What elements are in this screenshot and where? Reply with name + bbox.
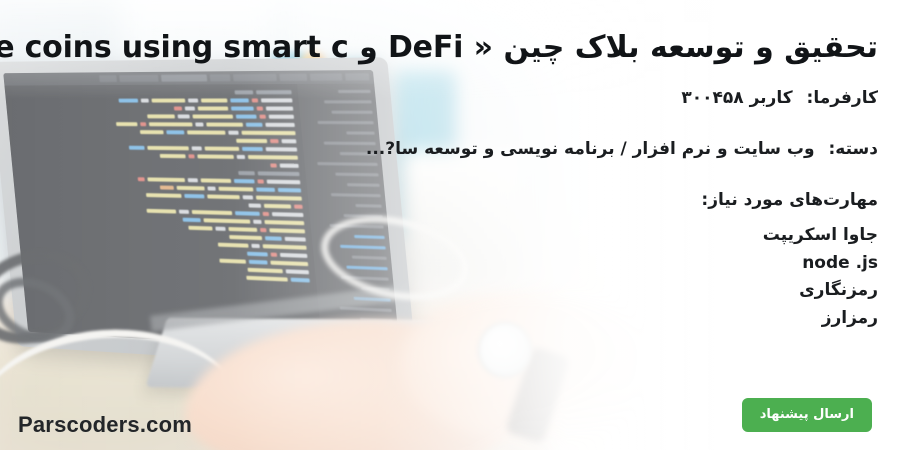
- employer-row: کارفرما: کاربر ۳۰۰۴۵۸: [681, 88, 878, 108]
- skill-item: node .js: [763, 250, 878, 278]
- skills-list: جاوا اسکریپت node .js رمزنگاری رمزارز: [763, 222, 878, 332]
- project-card: تحقیق و توسعه بلاک چین « DeFi و stable c…: [0, 0, 900, 450]
- skills-label: مهارت‌های مورد نیاز:: [701, 190, 878, 210]
- employer-label: کارفرما:: [807, 88, 878, 108]
- card-content: تحقیق و توسعه بلاک چین « DeFi و stable c…: [0, 0, 900, 450]
- submit-proposal-button[interactable]: ارسال پیشنهاد: [742, 398, 872, 432]
- project-title: تحقیق و توسعه بلاک چین « DeFi و stable c…: [0, 28, 878, 68]
- skill-item: جاوا اسکریپت: [763, 222, 878, 250]
- site-logo: Parscoders.com: [18, 412, 192, 438]
- skill-item: رمزنگاری: [763, 277, 878, 305]
- category-label: دسته:: [829, 139, 879, 159]
- skill-item: رمزارز: [763, 305, 878, 333]
- category-row: دسته: وب سایت و نرم افزار / برنامه نویسی…: [0, 139, 878, 159]
- category-value: وب سایت و نرم افزار / برنامه نویسی و توس…: [366, 139, 815, 159]
- employer-value: کاربر ۳۰۰۴۵۸: [681, 88, 792, 108]
